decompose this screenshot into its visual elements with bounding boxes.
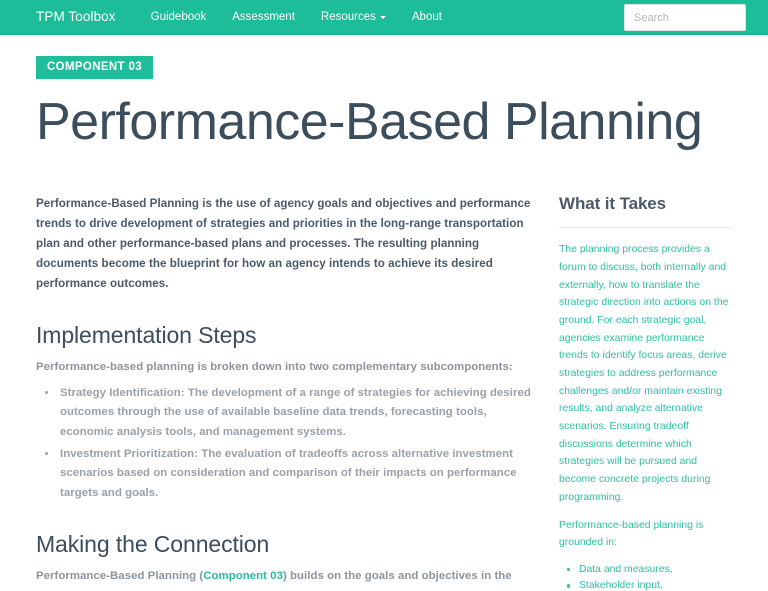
main-column: Performance-Based Planning is the use of… <box>36 194 547 591</box>
component-badge: COMPONENT 03 <box>36 56 153 79</box>
page-content: COMPONENT 03 Performance-Based Planning … <box>0 35 768 591</box>
making-the-connection-heading: Making the Connection <box>36 531 535 558</box>
making-the-connection-paragraph: Performance-Based Planning (Component 03… <box>36 567 535 591</box>
list-item: Stakeholder input, <box>559 578 732 591</box>
nav-item-label: About <box>412 11 442 23</box>
list-item: Investment Prioritization: The evaluatio… <box>36 445 535 504</box>
text-fragment: Performance-Based Planning ( <box>36 570 203 582</box>
implementation-steps-list: Strategy Identification: The development… <box>36 384 535 504</box>
search-input[interactable] <box>624 4 746 31</box>
page-title: Performance-Based Planning <box>36 93 746 151</box>
implementation-steps-intro: Performance-based planning is broken dow… <box>36 358 535 378</box>
sidebar-grounded-list: Data and measures, Stakeholder input, Po… <box>559 562 732 591</box>
sidebar-column: What it Takes The planning process provi… <box>547 194 732 591</box>
nav-item-label: Assessment <box>232 11 295 23</box>
nav-item-guidebook[interactable]: Guidebook <box>138 11 220 23</box>
search-container <box>624 4 746 31</box>
nav-item-resources[interactable]: Resources <box>308 11 399 23</box>
sidebar-paragraph-1: The planning process provides a forum to… <box>559 241 732 506</box>
nav-item-assessment[interactable]: Assessment <box>219 11 308 23</box>
list-item: Data and measures, <box>559 562 732 578</box>
nav-item-label: Resources <box>321 11 376 23</box>
lede-paragraph: Performance-Based Planning is the use of… <box>36 194 535 294</box>
list-item: Strategy Identification: The development… <box>36 384 535 443</box>
chevron-down-icon <box>380 16 386 19</box>
link-component-03[interactable]: Component 03 <box>203 570 283 582</box>
brand-link[interactable]: TPM Toolbox <box>36 9 116 24</box>
content-columns: Performance-Based Planning is the use of… <box>36 194 746 591</box>
implementation-steps-heading: Implementation Steps <box>36 322 535 349</box>
top-navbar: TPM Toolbox Guidebook Assessment Resourc… <box>0 0 768 35</box>
sidebar-title: What it Takes <box>559 194 732 227</box>
nav-item-about[interactable]: About <box>399 11 455 23</box>
sidebar-paragraph-2: Performance-based planning is grounded i… <box>559 517 732 552</box>
divider <box>559 227 732 228</box>
nav-item-label: Guidebook <box>151 11 207 23</box>
nav-links: Guidebook Assessment Resources About <box>138 11 455 23</box>
